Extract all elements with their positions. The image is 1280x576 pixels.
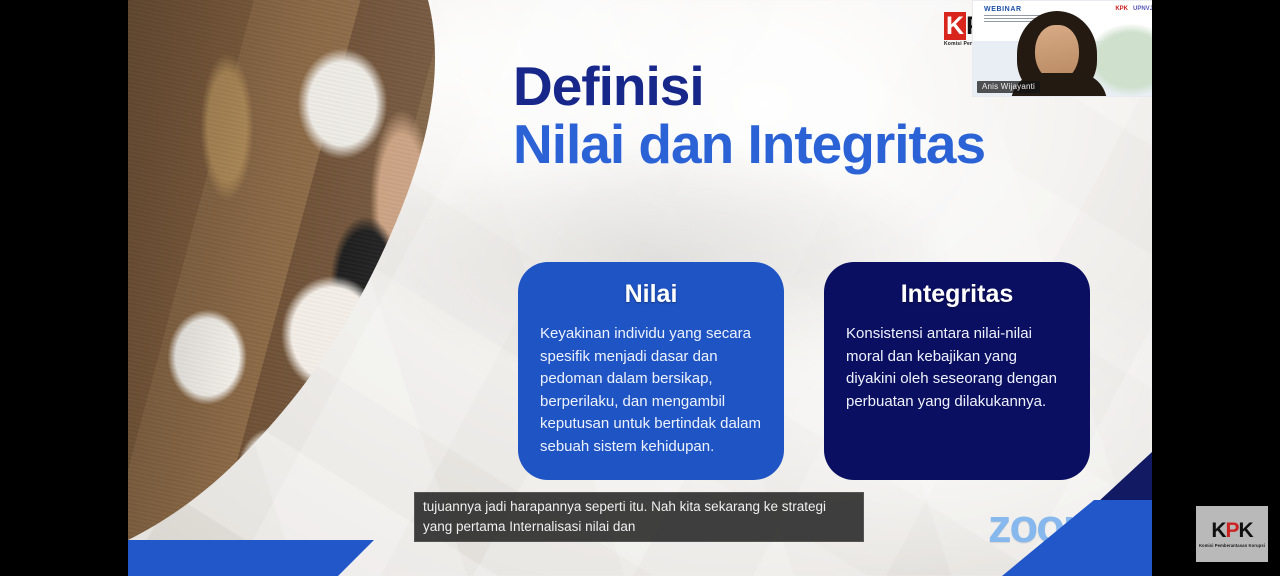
- screen: Definisi Nilai dan Integritas Nilai Keya…: [0, 0, 1280, 576]
- letterbox-bar-right: [1152, 0, 1280, 576]
- kpk-logo-letter-2: P: [1225, 519, 1238, 542]
- slide-title: Definisi Nilai dan Integritas: [513, 58, 985, 172]
- kpi-logo-k: K: [944, 12, 966, 40]
- kpk-logo-letter-1: K: [1211, 519, 1225, 542]
- shared-slide-header: WEBINAR: [984, 6, 1022, 13]
- kpk-logo-wordmark: KPK: [1211, 520, 1252, 541]
- shared-logo-kpk: KPK: [1115, 6, 1128, 12]
- slide-title-line-2: Nilai dan Integritas: [513, 116, 985, 172]
- card-body-text: Konsistensi antara nilai-nilai moral dan…: [846, 323, 1068, 413]
- participant-video-tile[interactable]: WEBINAR KPK UPNVJ Anis Wijayanti: [972, 0, 1162, 97]
- card-heading: Integritas: [846, 280, 1068, 309]
- shared-logo-upnvj: UPNVJ: [1133, 6, 1153, 12]
- slide-title-line-1: Definisi: [513, 58, 985, 114]
- letterbox-bar-left: [0, 0, 128, 576]
- shared-slide-logos: KPK UPNVJ: [1115, 6, 1153, 12]
- card-heading: Nilai: [540, 280, 762, 309]
- card-body-text: Keyakinan individu yang secara spesifik …: [540, 323, 762, 458]
- definition-card-integritas: Integritas Konsistensi antara nilai-nila…: [824, 262, 1090, 480]
- participant-name-label: Anis Wijayanti: [977, 81, 1040, 93]
- kpk-logo-subtitle: Komisi Pemberantasan Korupsi: [1199, 543, 1265, 548]
- definition-card-nilai: Nilai Keyakinan individu yang secara spe…: [518, 262, 784, 480]
- kpk-logo-letter-3: K: [1239, 519, 1253, 542]
- live-caption-bar: tujuannya jadi harapannya seperti itu. N…: [414, 492, 864, 542]
- kpk-logo: KPK Komisi Pemberantasan Korupsi: [1196, 506, 1268, 562]
